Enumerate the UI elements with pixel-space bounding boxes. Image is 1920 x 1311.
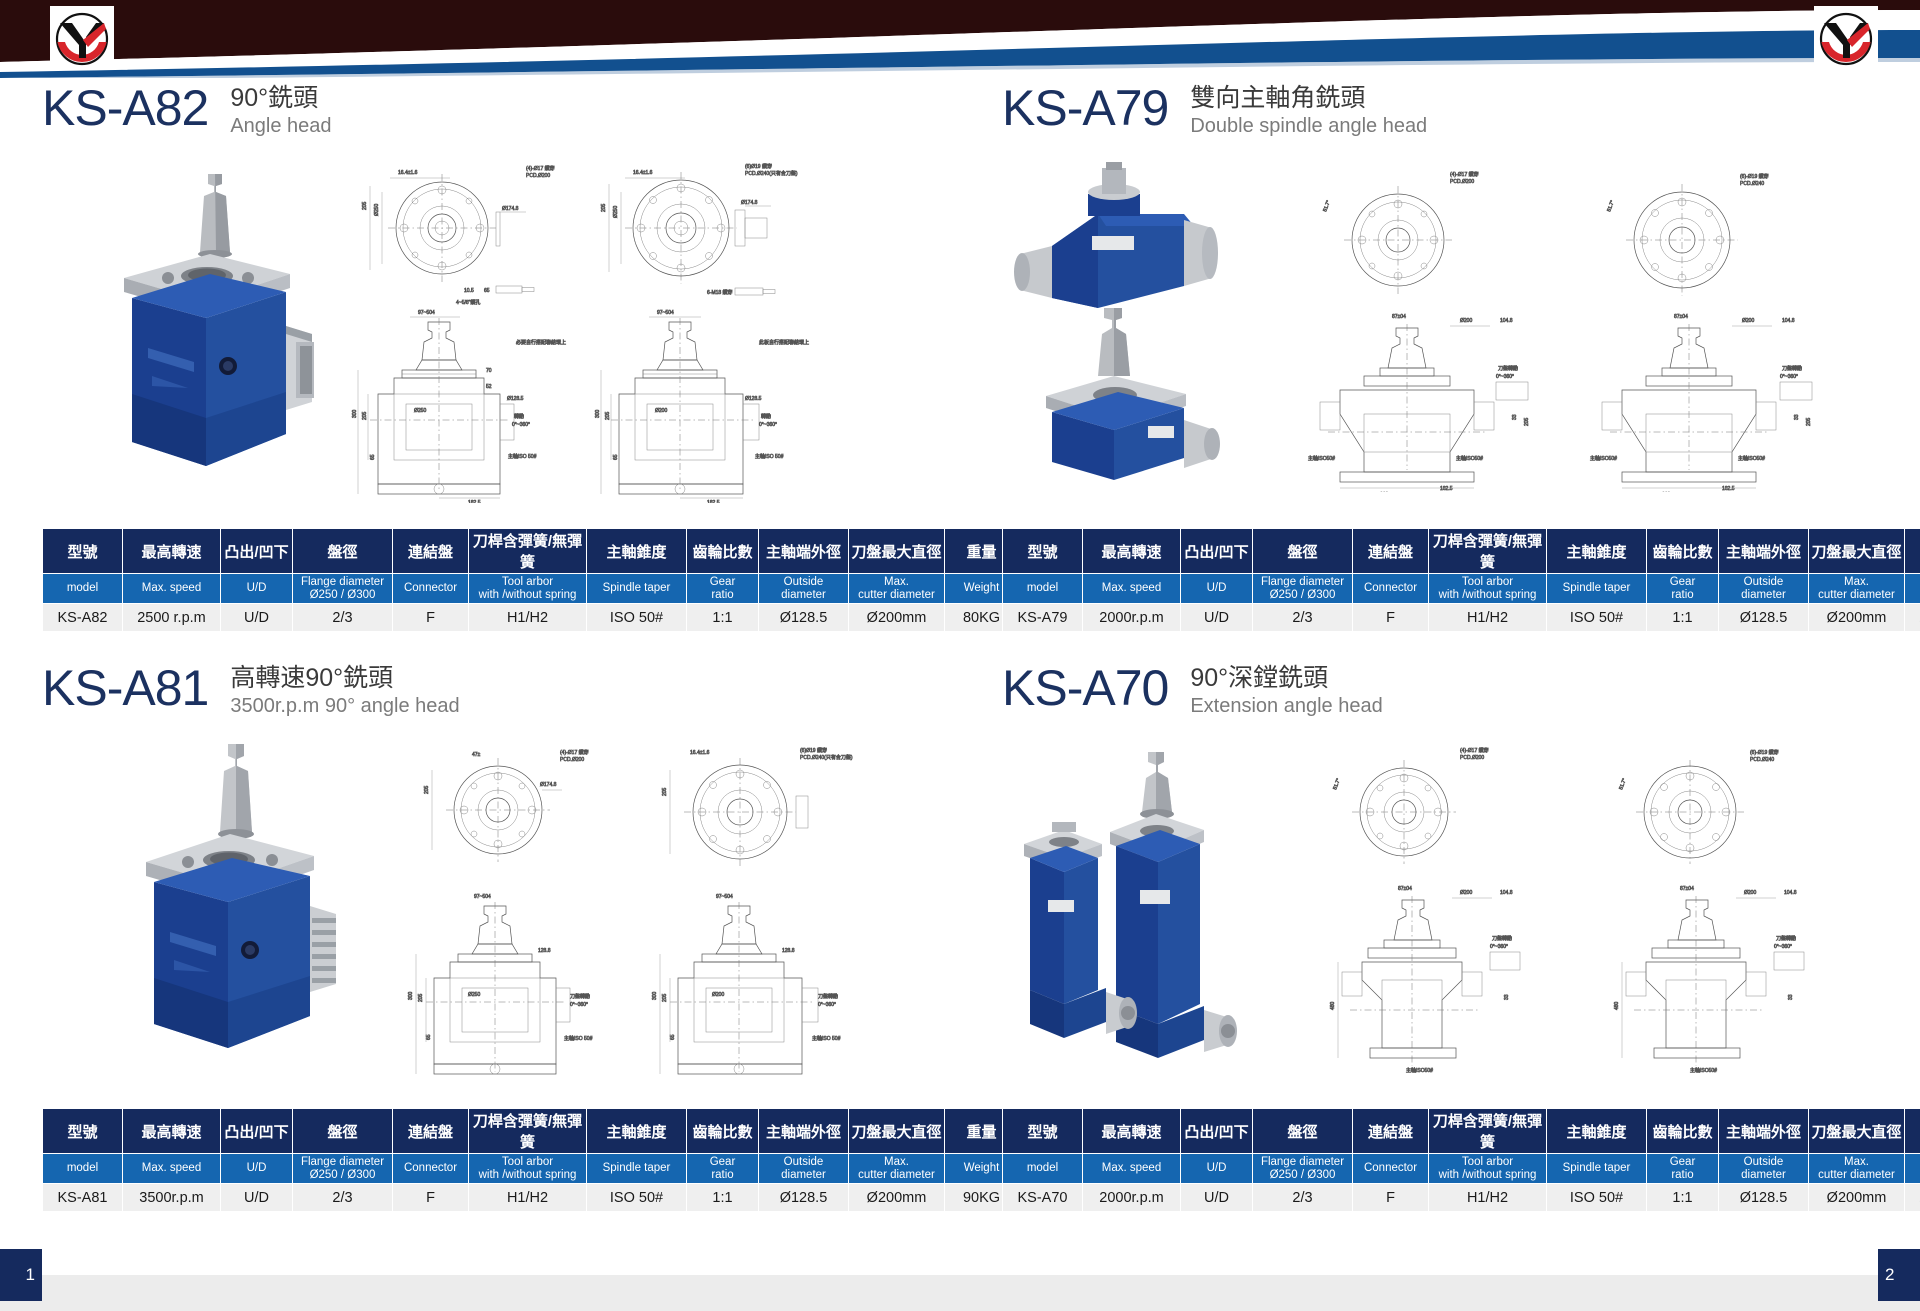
product-block-ks-a79: KS-A79 雙向主軸角銑頭 Double spindle angle head <box>960 80 1920 660</box>
spec-table-ks-a82: 型號 最高轉速 凸出/凹下 盤徑 連結盤 刀桿含彈簧/無彈簧 主軸錐度 齒輪比數… <box>42 528 1019 632</box>
technical-drawing-ks-a82: 16.4±1.6 (4)-Ø17 鑽穿 PCD.Ø200 <box>340 158 920 508</box>
svg-text:16.4±1.6: 16.4±1.6 <box>633 170 653 176</box>
val-2: U/D <box>1181 1184 1253 1212</box>
svg-text:0°~360°: 0°~360° <box>1780 374 1798 380</box>
col-cn-3: 盤徑 <box>293 529 393 574</box>
svg-text:6-M18 鑽穿: 6-M18 鑽穿 <box>707 289 733 296</box>
col-en-5: Tool arborwith /without spring <box>469 574 587 604</box>
col-en-4: Connector <box>393 1154 469 1184</box>
model-name: KS-A79 <box>1002 80 1168 136</box>
svg-text:52: 52 <box>486 384 492 390</box>
svg-text:65: 65 <box>670 1034 676 1040</box>
val-3: 2/3 <box>1253 604 1353 632</box>
technical-drawing-ks-a70: (4)-Ø17 鑽穿 PCD.Ø200 <box>1280 738 1880 1083</box>
col-en-7: Gearratio <box>687 574 759 604</box>
product-block-ks-a70: KS-A70 90°深鏜銑頭 Extension angle head <box>960 660 1920 1240</box>
col-cn-3: 盤徑 <box>1253 1109 1353 1154</box>
val-9: Ø200mm <box>849 1184 945 1212</box>
svg-text:51.7°: 51.7° <box>1618 778 1628 791</box>
col-en-10: Weight <box>1905 1154 1920 1184</box>
col-en-3: Flange diameterØ250 / Ø300 <box>1253 574 1353 604</box>
svg-text:0°~360°: 0°~360° <box>759 422 777 428</box>
col-cn-6: 主軸錐度 <box>587 529 687 574</box>
svg-text:0°~360°: 0°~360° <box>1774 944 1792 950</box>
product-photo-ks-a81 <box>78 740 348 1075</box>
product-photo-ks-a82 <box>60 166 320 491</box>
spec-data-row-ks-a70: KS-A70 2000r.p.m U/D 2/3 F H1/H2 ISO 50#… <box>1003 1184 1920 1212</box>
val-7: 1:1 <box>1647 1184 1719 1212</box>
model-name: KS-A70 <box>1002 660 1168 716</box>
svg-text:300: 300 <box>652 991 658 1000</box>
svg-text:Ø250: Ø250 <box>414 408 426 414</box>
val-5: H1/H2 <box>1429 604 1547 632</box>
val-1: 2500 r.p.m <box>123 604 221 632</box>
val-3: 2/3 <box>293 1184 393 1212</box>
svg-text:Ø128.5: Ø128.5 <box>507 396 524 402</box>
svg-text:(6)-Ø19 鑽穿: (6)-Ø19 鑽穿 <box>1750 749 1779 756</box>
svg-text:(6)Ø19 鑽穿: (6)Ø19 鑽穿 <box>800 747 827 754</box>
svg-text:182.5: 182.5 <box>707 500 720 503</box>
col-cn-7: 齒輪比數 <box>1647 529 1719 574</box>
col-cn-5: 刀桿含彈簧/無彈簧 <box>469 1109 587 1154</box>
title-chinese: 90°深鏜銑頭 <box>1190 663 1382 693</box>
title-english: 3500r.p.m 90° angle head <box>230 693 459 719</box>
svg-text:PCD.Ø200: PCD.Ø200 <box>1450 179 1474 185</box>
svg-text:65: 65 <box>484 288 490 294</box>
title-chinese: 高轉速90°銑頭 <box>230 663 459 693</box>
col-cn-7: 齒輪比數 <box>1647 1109 1719 1154</box>
svg-text:Ø200: Ø200 <box>1744 890 1756 896</box>
col-cn-1: 最高轉速 <box>123 1109 221 1154</box>
val-5: H1/H2 <box>1429 1184 1547 1212</box>
val-7: 1:1 <box>1647 604 1719 632</box>
svg-text:主軸ISO50#: 主軸ISO50# <box>1406 1067 1433 1074</box>
svg-text:刀盤轉動: 刀盤轉動 <box>1492 935 1512 942</box>
svg-text:0°~360°: 0°~360° <box>512 422 530 428</box>
svg-text:Ø200: Ø200 <box>712 992 724 998</box>
svg-text:Ø174.8: Ø174.8 <box>502 206 519 212</box>
catalog-page: KS-A82 90°銑頭 Angle head <box>0 0 1920 1311</box>
col-en-9: Max.cutter diameter <box>1809 574 1905 604</box>
spec-data-row-ks-a82: KS-A82 2500 r.p.m U/D 2/3 F H1/H2 ISO 50… <box>43 604 1019 632</box>
svg-text:必要自行搭配聯結環上: 必要自行搭配聯結環上 <box>516 339 566 346</box>
col-en-9: Max.cutter diameter <box>1809 1154 1905 1184</box>
val-6: ISO 50# <box>1547 1184 1647 1212</box>
svg-text:PCD.Ø200: PCD.Ø200 <box>526 173 550 179</box>
col-cn-6: 主軸錐度 <box>1547 1109 1647 1154</box>
svg-text:480: 480 <box>1614 1001 1620 1010</box>
col-en-5: Tool arborwith /without spring <box>1429 1154 1547 1184</box>
val-6: ISO 50# <box>587 1184 687 1212</box>
col-cn-5: 刀桿含彈簧/無彈簧 <box>1429 529 1547 574</box>
svg-text:97~504: 97~504 <box>716 894 733 900</box>
val-2: U/D <box>221 1184 293 1212</box>
svg-text:主軸ISO 50#: 主軸ISO 50# <box>508 453 537 460</box>
col-cn-2: 凸出/凹下 <box>1181 1109 1253 1154</box>
col-en-6: Spindle taper <box>587 574 687 604</box>
col-cn-1: 最高轉速 <box>1083 529 1181 574</box>
svg-text:104.8: 104.8 <box>1782 318 1795 324</box>
val-8: Ø128.5 <box>759 604 849 632</box>
col-cn-0: 型號 <box>43 529 123 574</box>
svg-text:主軸ISO 50#: 主軸ISO 50# <box>564 1035 593 1042</box>
model-name: KS-A81 <box>42 660 208 716</box>
col-en-0: model <box>1003 574 1083 604</box>
svg-text:主軸ISO50#: 主軸ISO50# <box>1690 1067 1717 1074</box>
svg-text:480: 480 <box>1330 1001 1336 1010</box>
col-cn-9: 刀盤最大直徑 <box>1809 1109 1905 1154</box>
svg-text:33: 33 <box>1788 994 1794 1000</box>
col-en-3: Flange diameterØ250 / Ø300 <box>293 574 393 604</box>
technical-drawing-ks-a81: 47± (4)-Ø17 鑽穿 PCD.Ø200 <box>400 738 930 1083</box>
svg-text:4~5/8"鑽孔: 4~5/8"鑽孔 <box>456 299 480 306</box>
svg-text:PCD.Ø240(只有含刀盤): PCD.Ø240(只有含刀盤) <box>800 754 853 761</box>
technical-drawing-ks-a79: (4)-Ø17 鑽穿 PCD.Ø200 <box>1280 162 1880 497</box>
svg-text:刀盤轉動: 刀盤轉動 <box>818 993 838 1000</box>
svg-text:Ø250: Ø250 <box>468 992 480 998</box>
svg-text:(4)-Ø17 鑽穿: (4)-Ø17 鑽穿 <box>1450 171 1479 178</box>
col-en-4: Connector <box>1353 574 1429 604</box>
svg-text:主軸ISO 50#: 主軸ISO 50# <box>812 1035 841 1042</box>
svg-text:(4)-Ø17 鑽穿: (4)-Ø17 鑽穿 <box>560 749 589 756</box>
val-1: 2000r.p.m <box>1083 1184 1181 1212</box>
col-en-8: Outsidediameter <box>759 574 849 604</box>
col-en-2: U/D <box>221 1154 293 1184</box>
col-cn-4: 連結盤 <box>393 1109 469 1154</box>
svg-text:PCD.Ø240: PCD.Ø240 <box>1750 757 1774 763</box>
svg-text:0°~360°: 0°~360° <box>570 1002 588 1008</box>
val-0: KS-A81 <box>43 1184 123 1212</box>
svg-text:205: 205 <box>1524 417 1530 426</box>
product-art-ks-a79: (4)-Ø17 鑽穿 PCD.Ø200 <box>960 158 1920 493</box>
val-9: Ø200mm <box>849 604 945 632</box>
product-title-ks-a81: KS-A81 高轉速90°銑頭 3500r.p.m 90° angle head <box>0 660 960 734</box>
title-chinese: 雙向主軸角銑頭 <box>1190 83 1427 113</box>
svg-text:205: 205 <box>601 203 607 212</box>
title-english: Extension angle head <box>1190 693 1382 719</box>
svg-text:87±04: 87±04 <box>1680 886 1694 892</box>
val-6: ISO 50# <box>1547 604 1647 632</box>
val-10: 105KG <box>1905 1184 1920 1212</box>
product-block-ks-a82: KS-A82 90°銑頭 Angle head <box>0 80 960 660</box>
company-logo-right <box>1814 6 1878 70</box>
col-cn-8: 主軸端外徑 <box>1719 529 1809 574</box>
col-cn-8: 主軸端外徑 <box>1719 1109 1809 1154</box>
svg-text:87±04: 87±04 <box>1392 314 1406 320</box>
svg-text:300: 300 <box>352 409 358 418</box>
col-cn-8: 主軸端外徑 <box>759 1109 849 1154</box>
col-en-6: Spindle taper <box>587 1154 687 1184</box>
title-chinese: 90°銑頭 <box>230 83 331 113</box>
svg-text:300: 300 <box>408 991 414 1000</box>
svg-text:刀盤轉動: 刀盤轉動 <box>1782 365 1802 372</box>
spec-table-ks-a79: 型號 最高轉速 凸出/凹下 盤徑 連結盤 刀桿含彈簧/無彈簧 主軸錐度 齒輪比數… <box>1002 528 1920 632</box>
svg-text:主軸ISO50#: 主軸ISO50# <box>1308 455 1335 462</box>
val-1: 2000r.p.m <box>1083 604 1181 632</box>
svg-text:128.8: 128.8 <box>538 948 551 954</box>
col-cn-6: 主軸錐度 <box>587 1109 687 1154</box>
svg-text:51.7°: 51.7° <box>1322 200 1332 213</box>
svg-text:Ø250: Ø250 <box>613 206 619 218</box>
col-cn-9: 刀盤最大直徑 <box>1809 529 1905 574</box>
svg-text:205: 205 <box>362 411 368 420</box>
svg-text:128.8: 128.8 <box>782 948 795 954</box>
svg-text:205: 205 <box>605 411 611 420</box>
col-en-1: Max. speed <box>123 1154 221 1184</box>
page-number-left: 1 <box>0 1249 42 1301</box>
svg-text:182.5: 182.5 <box>1722 486 1735 492</box>
svg-text:主軸ISO50#: 主軸ISO50# <box>1590 455 1617 462</box>
col-en-9: Max.cutter diameter <box>849 574 945 604</box>
svg-text:主軸ISO50#: 主軸ISO50# <box>1738 455 1765 462</box>
spec-header-en-row: model Max. speed U/D Flange diameterØ250… <box>1003 574 1920 604</box>
col-en-7: Gearratio <box>1647 574 1719 604</box>
svg-text:刀盤轉動: 刀盤轉動 <box>1498 365 1518 372</box>
svg-text:51.7°: 51.7° <box>1606 200 1616 213</box>
svg-text:PCD.Ø200: PCD.Ø200 <box>560 757 584 763</box>
col-cn-8: 主軸端外徑 <box>759 529 849 574</box>
val-7: 1:1 <box>687 604 759 632</box>
val-1: 3500r.p.m <box>123 1184 221 1212</box>
product-photo-ks-a70 <box>980 738 1270 1078</box>
product-art-ks-a81: 47± (4)-Ø17 鑽穿 PCD.Ø200 <box>0 738 960 1073</box>
product-title-ks-a82: KS-A82 90°銑頭 Angle head <box>0 80 960 154</box>
svg-text:205: 205 <box>362 201 368 210</box>
svg-text:Ø200: Ø200 <box>1460 890 1472 896</box>
col-en-1: Max. speed <box>1083 1154 1181 1184</box>
val-8: Ø128.5 <box>1719 604 1809 632</box>
product-title-ks-a70: KS-A70 90°深鏜銑頭 Extension angle head <box>960 660 1920 734</box>
svg-text:205: 205 <box>424 785 430 794</box>
val-0: KS-A79 <box>1003 604 1083 632</box>
col-en-6: Spindle taper <box>1547 1154 1647 1184</box>
svg-text:Ø200: Ø200 <box>1742 318 1754 324</box>
svg-text:97~504: 97~504 <box>418 310 435 316</box>
col-cn-0: 型號 <box>43 1109 123 1154</box>
val-6: ISO 50# <box>587 604 687 632</box>
svg-text:65: 65 <box>426 1034 432 1040</box>
val-4: F <box>1353 1184 1429 1212</box>
title-english: Double spindle angle head <box>1190 113 1427 139</box>
page-number-right: 2 <box>1878 1249 1920 1301</box>
svg-text:205: 205 <box>418 993 424 1002</box>
spec-header-en-row: model Max. speed U/D Flange diameterØ250… <box>43 574 1019 604</box>
val-10: 100KG <box>1905 604 1920 632</box>
col-cn-7: 齒輪比數 <box>687 529 759 574</box>
col-en-7: Gearratio <box>1647 1154 1719 1184</box>
col-cn-4: 連結盤 <box>393 529 469 574</box>
val-2: U/D <box>221 604 293 632</box>
spec-table-ks-a70: 型號 最高轉速 凸出/凹下 盤徑 連結盤 刀桿含彈簧/無彈簧 主軸錐度 齒輪比數… <box>1002 1108 1920 1212</box>
col-en-2: U/D <box>221 574 293 604</box>
spec-header-cn-row: 型號 最高轉速 凸出/凹下 盤徑 連結盤 刀桿含彈簧/無彈簧 主軸錐度 齒輪比數… <box>43 529 1019 574</box>
col-en-0: model <box>43 574 123 604</box>
col-en-3: Flange diameterØ250 / Ø300 <box>1253 1154 1353 1184</box>
svg-text:0°~360°: 0°~360° <box>1496 374 1514 380</box>
val-9: Ø200mm <box>1809 604 1905 632</box>
product-art-ks-a70: (4)-Ø17 鑽穿 PCD.Ø200 <box>960 738 1920 1073</box>
val-3: 2/3 <box>293 604 393 632</box>
spec-data-row-ks-a81: KS-A81 3500r.p.m U/D 2/3 F H1/H2 ISO 50#… <box>43 1184 1019 1212</box>
svg-text:205: 205 <box>1806 417 1812 426</box>
col-cn-10: 重量 <box>1905 529 1920 574</box>
svg-text:0°~360°: 0°~360° <box>1490 944 1508 950</box>
svg-text:刀盤轉動: 刀盤轉動 <box>570 993 590 1000</box>
svg-text:(4)-Ø17 鑽穿: (4)-Ø17 鑽穿 <box>1460 747 1489 754</box>
col-cn-9: 刀盤最大直徑 <box>849 529 945 574</box>
svg-text:PCD.Ø240: PCD.Ø240 <box>1740 181 1764 187</box>
col-en-2: U/D <box>1181 574 1253 604</box>
col-en-1: Max. speed <box>123 574 221 604</box>
col-en-4: Connector <box>393 574 469 604</box>
val-0: KS-A82 <box>43 604 123 632</box>
svg-text:97~504: 97~504 <box>474 894 491 900</box>
col-en-7: Gearratio <box>687 1154 759 1184</box>
svg-text:33: 33 <box>1794 414 1800 420</box>
svg-text:Ø128.5: Ø128.5 <box>745 396 762 402</box>
svg-text:主軸ISO 50#: 主軸ISO 50# <box>755 453 784 460</box>
page-header <box>0 0 1920 78</box>
col-cn-5: 刀桿含彈簧/無彈簧 <box>1429 1109 1547 1154</box>
spec-header-cn-row: 型號 最高轉速 凸出/凹下 盤徑 連結盤 刀桿含彈簧/無彈簧 主軸錐度 齒輪比數… <box>1003 529 1920 574</box>
col-cn-4: 連結盤 <box>1353 1109 1429 1154</box>
svg-text:Ø174.8: Ø174.8 <box>540 782 557 788</box>
svg-text:PCD.Ø200: PCD.Ø200 <box>1460 755 1484 761</box>
svg-text:PCD.Ø240(只有含刀盤): PCD.Ø240(只有含刀盤) <box>745 170 798 177</box>
col-en-1: Max. speed <box>1083 574 1181 604</box>
svg-text:70: 70 <box>486 368 492 374</box>
footer-bar <box>0 1275 1920 1311</box>
svg-text:16.4±1.6: 16.4±1.6 <box>398 170 418 176</box>
svg-text:(4)-Ø17 鑽穿: (4)-Ø17 鑽穿 <box>526 165 555 172</box>
col-en-0: model <box>43 1154 123 1184</box>
spec-header-cn-row: 型號 最高轉速 凸出/凹下 盤徑 連結盤 刀桿含彈簧/無彈簧 主軸錐度 齒輪比數… <box>43 1109 1019 1154</box>
col-cn-2: 凸出/凹下 <box>221 1109 293 1154</box>
svg-text:33: 33 <box>1512 414 1518 420</box>
svg-text:205: 205 <box>662 787 668 796</box>
product-block-ks-a81: KS-A81 高轉速90°銑頭 3500r.p.m 90° angle head <box>0 660 960 1240</box>
svg-text:300: 300 <box>595 409 601 418</box>
col-cn-9: 刀盤最大直徑 <box>849 1109 945 1154</box>
svg-text:主軸ISO50#: 主軸ISO50# <box>1456 455 1483 462</box>
col-en-8: Outsidediameter <box>1719 574 1809 604</box>
val-4: F <box>1353 604 1429 632</box>
svg-text:65: 65 <box>370 454 376 460</box>
val-8: Ø128.5 <box>759 1184 849 1212</box>
svg-text:轉動: 轉動 <box>761 413 771 420</box>
svg-text:刀盤轉動: 刀盤轉動 <box>1776 935 1796 942</box>
svg-text:(6)Ø19 鑽穿: (6)Ø19 鑽穿 <box>745 163 772 170</box>
svg-text:87±04: 87±04 <box>1674 314 1688 320</box>
val-2: U/D <box>1181 604 1253 632</box>
val-5: H1/H2 <box>469 1184 587 1212</box>
val-7: 1:1 <box>687 1184 759 1212</box>
spec-header-en-row: model Max. speed U/D Flange diameterØ250… <box>1003 1154 1920 1184</box>
val-5: H1/H2 <box>469 604 587 632</box>
svg-text:Ø174.8: Ø174.8 <box>741 200 758 206</box>
col-cn-0: 型號 <box>1003 1109 1083 1154</box>
product-photo-ks-a79 <box>988 158 1248 493</box>
col-en-5: Tool arborwith /without spring <box>1429 574 1547 604</box>
col-cn-6: 主軸錐度 <box>1547 529 1647 574</box>
col-cn-1: 最高轉速 <box>123 529 221 574</box>
svg-text:(6)-Ø19 鑽穿: (6)-Ø19 鑽穿 <box>1740 173 1769 180</box>
spec-data-row-ks-a79: KS-A79 2000r.p.m U/D 2/3 F H1/H2 ISO 50#… <box>1003 604 1920 632</box>
svg-text:Ø250: Ø250 <box>374 204 380 216</box>
svg-text:33: 33 <box>1504 994 1510 1000</box>
svg-text:此板自行搭配聯結環上: 此板自行搭配聯結環上 <box>759 339 809 346</box>
col-en-4: Connector <box>1353 1154 1429 1184</box>
col-en-0: model <box>1003 1154 1083 1184</box>
svg-text:182.5: 182.5 <box>468 500 481 503</box>
col-en-8: Outsidediameter <box>759 1154 849 1184</box>
svg-text:16.4±1.6: 16.4±1.6 <box>690 750 710 756</box>
col-en-2: U/D <box>1181 1154 1253 1184</box>
col-en-6: Spindle taper <box>1547 574 1647 604</box>
svg-text:104.8: 104.8 <box>1500 318 1513 324</box>
company-logo-left <box>50 6 114 70</box>
svg-text:47±: 47± <box>472 752 481 758</box>
title-english: Angle head <box>230 113 331 139</box>
val-8: Ø128.5 <box>1719 1184 1809 1212</box>
svg-text:104.8: 104.8 <box>1500 890 1513 896</box>
svg-text:182.5: 182.5 <box>1440 486 1453 492</box>
col-en-3: Flange diameterØ250 / Ø300 <box>293 1154 393 1184</box>
svg-text:51.7°: 51.7° <box>1332 778 1342 791</box>
product-art-ks-a82: 16.4±1.6 (4)-Ø17 鑽穿 PCD.Ø200 <box>0 158 960 493</box>
val-3: 2/3 <box>1253 1184 1353 1212</box>
val-4: F <box>393 1184 469 1212</box>
svg-text:0°~360°: 0°~360° <box>818 1002 836 1008</box>
svg-text:Ø200: Ø200 <box>1460 318 1472 324</box>
svg-text:104.8: 104.8 <box>1784 890 1797 896</box>
spec-header-en-row: model Max. speed U/D Flange diameterØ250… <box>43 1154 1019 1184</box>
val-9: Ø200mm <box>1809 1184 1905 1212</box>
val-0: KS-A70 <box>1003 1184 1083 1212</box>
svg-text:10.5: 10.5 <box>464 288 474 294</box>
col-cn-7: 齒輪比數 <box>687 1109 759 1154</box>
col-en-5: Tool arborwith /without spring <box>469 1154 587 1184</box>
col-cn-3: 盤徑 <box>293 1109 393 1154</box>
col-cn-4: 連結盤 <box>1353 529 1429 574</box>
svg-text:97~504: 97~504 <box>657 310 674 316</box>
svg-text:65: 65 <box>613 454 619 460</box>
model-name: KS-A82 <box>42 80 208 136</box>
col-cn-10: 重量 <box>1905 1109 1920 1154</box>
col-cn-3: 盤徑 <box>1253 529 1353 574</box>
svg-text:87±04: 87±04 <box>1398 886 1412 892</box>
header-banner-graphic <box>0 0 1920 78</box>
spec-header-cn-row: 型號 最高轉速 凸出/凹下 盤徑 連結盤 刀桿含彈簧/無彈簧 主軸錐度 齒輪比數… <box>1003 1109 1920 1154</box>
svg-text:轉動: 轉動 <box>514 413 524 420</box>
product-title-ks-a79: KS-A79 雙向主軸角銑頭 Double spindle angle head <box>960 80 1920 154</box>
col-cn-5: 刀桿含彈簧/無彈簧 <box>469 529 587 574</box>
svg-text:Ø200: Ø200 <box>655 408 667 414</box>
col-cn-2: 凸出/凹下 <box>1181 529 1253 574</box>
col-cn-1: 最高轉速 <box>1083 1109 1181 1154</box>
val-4: F <box>393 604 469 632</box>
col-en-8: Outsidediameter <box>1719 1154 1809 1184</box>
col-en-10: Weight <box>1905 574 1920 604</box>
col-cn-0: 型號 <box>1003 529 1083 574</box>
svg-text:205: 205 <box>662 993 668 1002</box>
col-cn-2: 凸出/凹下 <box>221 529 293 574</box>
spec-table-ks-a81: 型號 最高轉速 凸出/凹下 盤徑 連結盤 刀桿含彈簧/無彈簧 主軸錐度 齒輪比數… <box>42 1108 1019 1212</box>
col-en-9: Max.cutter diameter <box>849 1154 945 1184</box>
